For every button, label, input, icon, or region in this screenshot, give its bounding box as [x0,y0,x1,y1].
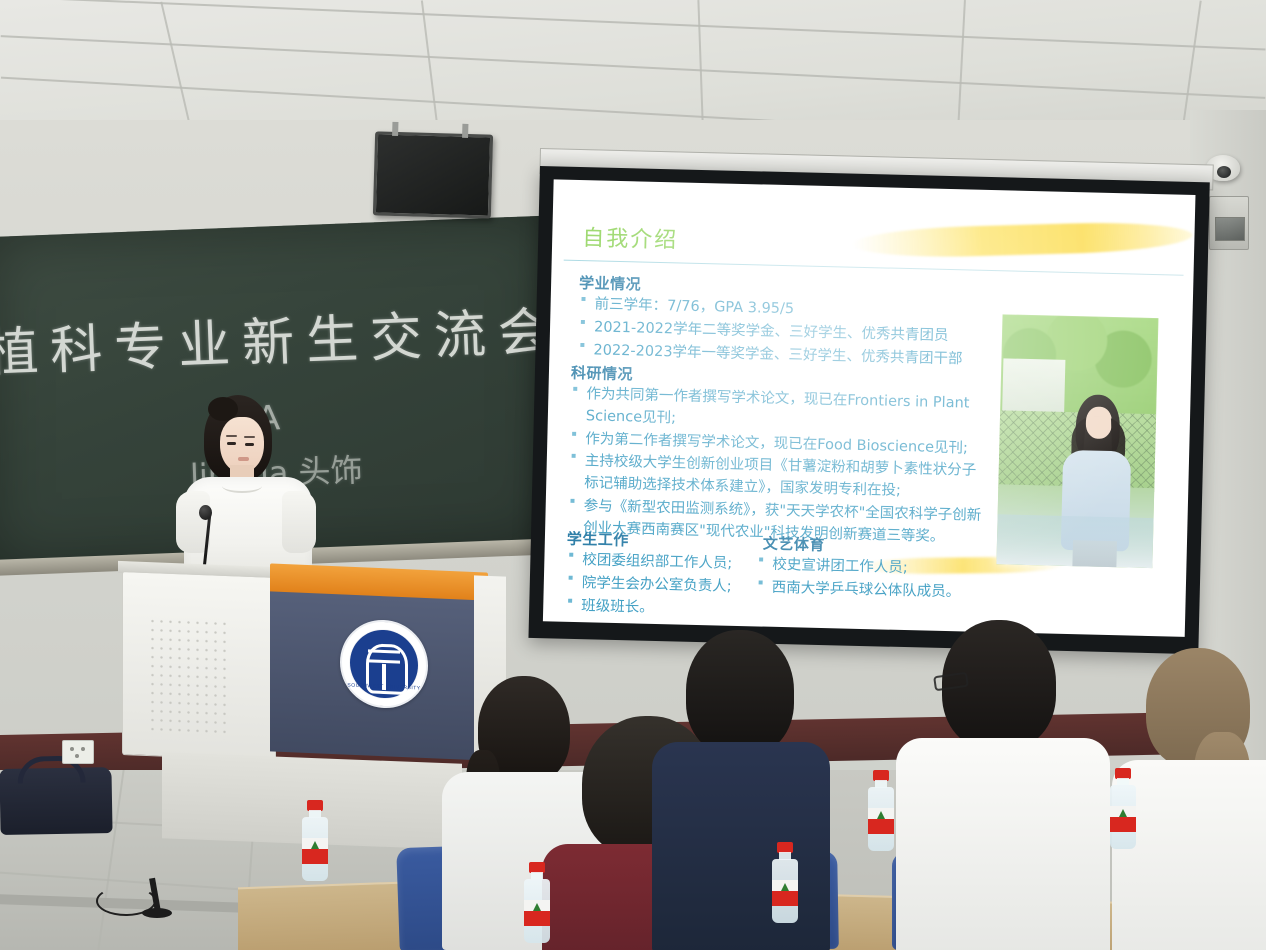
slide-portrait-photo [996,314,1158,568]
section-heading-academics: 学业情况 [579,272,642,295]
section-list-academics: 前三学年：7/76，GPA 3.95/5 2021-2022学年二等奖学金、三好… [577,294,979,372]
photo-building [1002,358,1065,415]
audience-member [1124,648,1266,950]
power-outlet [62,740,94,764]
photo-person-face [1086,406,1113,439]
podium-microphone-head [199,505,212,520]
section-list-arts-sports: 校史宣讲团工作人员; 西南大学乒乓球公体队成员。 [755,554,976,605]
control-box-screen [1215,217,1245,241]
list-item: 西南大学乒乓球公体队成员。 [755,577,975,604]
presenter-collar [222,479,262,493]
slide: 自我介绍 学业情况 前三学年：7/76，GPA 3.95/5 2021-2022… [543,179,1196,637]
presenter-mouth [238,457,249,461]
section-heading-research: 科研情况 [571,362,634,385]
podium-speaker-grille [148,616,230,739]
presenter-sleeve-right [282,491,316,553]
list-item: 院学生会办公室负责人; [566,573,756,599]
classroom-scene: 植科专业新生交流会 GPA lingua 头饰 MITSUBISHI 自我介绍 … [0,0,1266,950]
section-heading-student-work: 学生工作 [567,528,630,551]
audience-head [686,630,794,756]
section-list-research: 作为共同第一作者撰写学术论文，现已在Frontiers in Plant Sci… [567,384,991,550]
slide-decor-swoosh-top [852,220,1193,259]
section-list-student-work: 校团委组织部工作人员; 院学生会办公室负责人; 班级班长。 [565,550,757,623]
audience-torso [652,742,830,950]
audience-member [912,620,1090,950]
section-heading-arts-sports: 文艺体育 [763,533,826,556]
list-item: 班级班长。 [565,595,755,621]
wall-speaker [373,131,493,218]
floor-microphone-base [142,908,172,918]
wall-control-box [1209,196,1249,250]
slide-title: 自我介绍 [582,220,679,254]
photo-reflection [996,514,1153,568]
camera-lens-icon [1217,166,1231,178]
list-item: 校团委组织部工作人员; [566,550,756,576]
slide-title-divider [564,260,1184,276]
bag [0,767,113,835]
projection-screen: 自我介绍 学业情况 前三学年：7/76，GPA 3.95/5 2021-2022… [528,166,1209,654]
audience-torso [896,738,1110,950]
